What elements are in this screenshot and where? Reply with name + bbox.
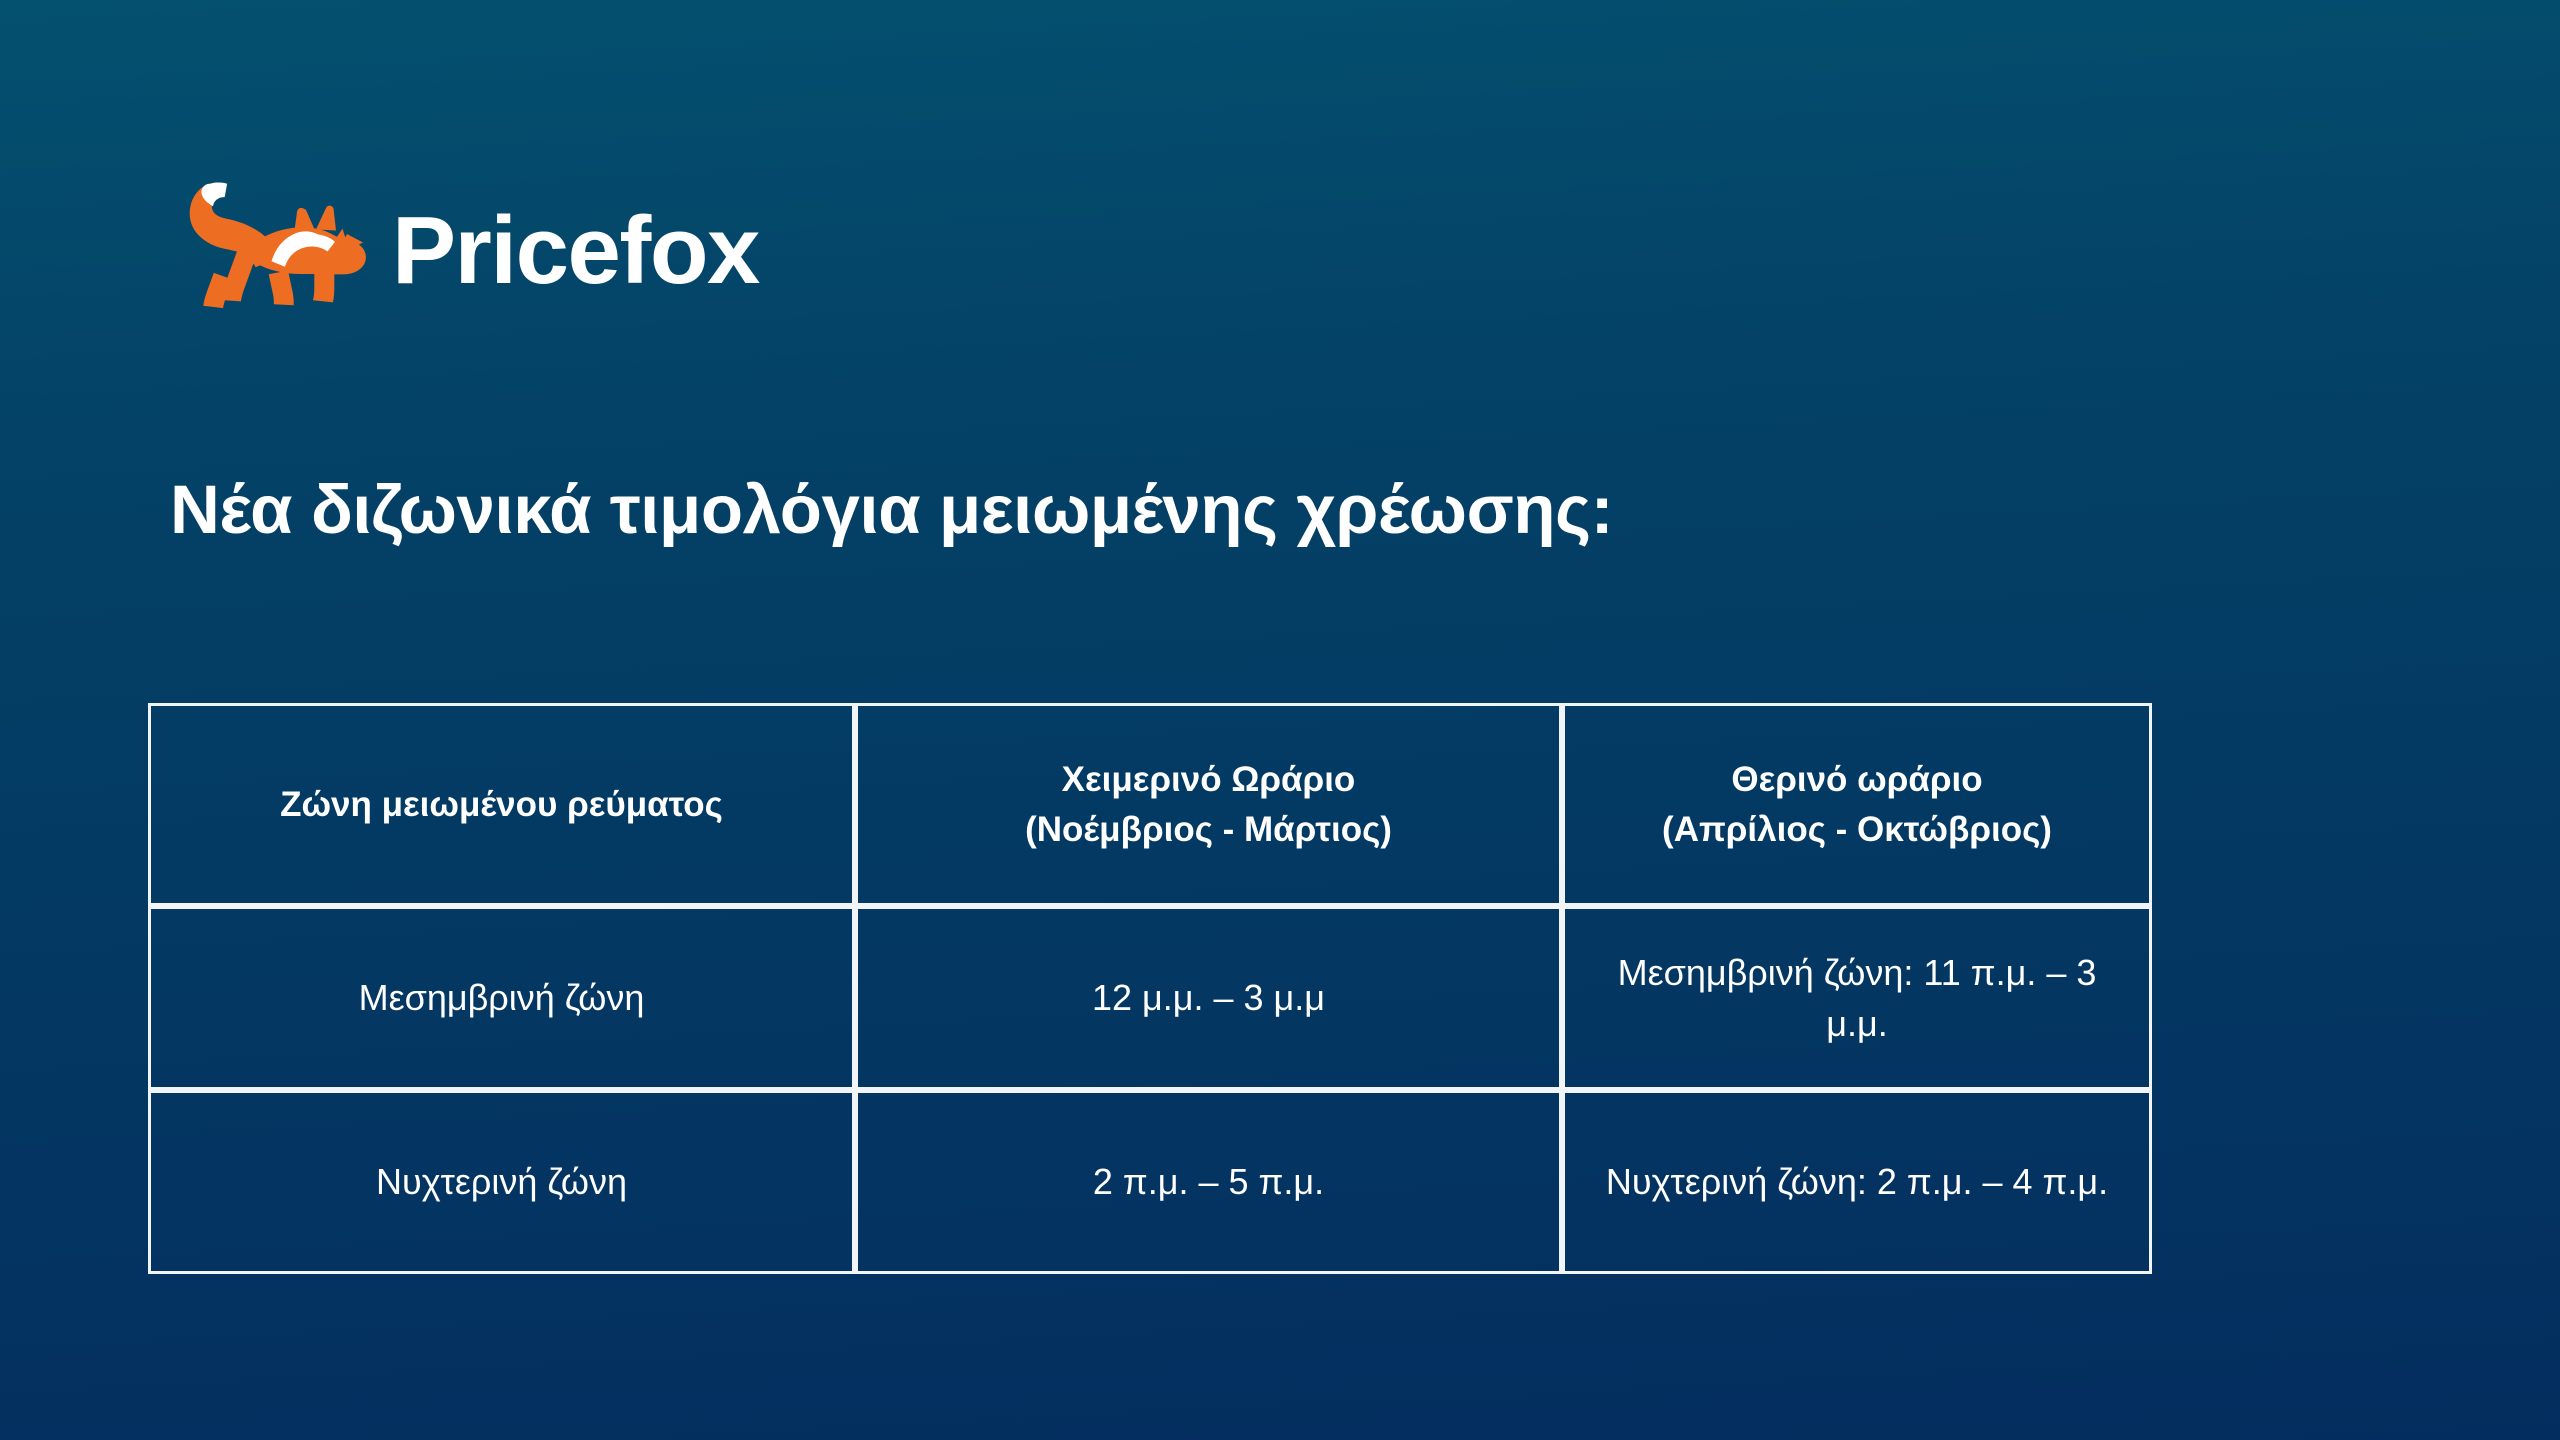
cell-winter-midday: 12 μ.μ. – 3 μ.μ — [855, 906, 1562, 1090]
column-header-summer: Θερινό ωράριο (Απρίλιος - Οκτώβριος) — [1562, 703, 2152, 906]
table-row: Νυχτερινή ζώνη 2 π.μ. – 5 π.μ. Νυχτερινή… — [148, 1090, 2152, 1274]
column-header-winter: Χειμερινό Ωράριο (Νοέμβριος - Μάρτιος) — [855, 703, 1562, 906]
brand-logo: Pricefox — [170, 178, 759, 318]
zone-schedule-table: Ζώνη μειωμένου ρεύματος Χειμερινό Ωράριο… — [148, 703, 2152, 1195]
column-header-winter-line-1: Χειμερινό Ωράριο — [884, 755, 1533, 805]
table-header-row: Ζώνη μειωμένου ρεύματος Χειμερινό Ωράριο… — [148, 703, 2152, 906]
page-title: Νέα διζωνικά τιμολόγια μειωμένης χρέωσης… — [170, 469, 1613, 550]
brand-wordmark: Pricefox — [392, 203, 759, 299]
cell-summer-night: Νυχτερινή ζώνη: 2 π.μ. – 4 π.μ. — [1562, 1090, 2152, 1274]
column-header-summer-line-1: Θερινό ωράριο — [1591, 755, 2123, 805]
fox-icon — [170, 178, 366, 318]
column-header-zone: Ζώνη μειωμένου ρεύματος — [148, 703, 855, 906]
table-row: Μεσημβρινή ζώνη 12 μ.μ. – 3 μ.μ Μεσημβρι… — [148, 906, 2152, 1090]
cell-zone-night: Νυχτερινή ζώνη — [148, 1090, 855, 1274]
column-header-zone-line-1: Ζώνη μειωμένου ρεύματος — [177, 780, 826, 830]
cell-zone-midday: Μεσημβρινή ζώνη — [148, 906, 855, 1090]
cell-winter-night: 2 π.μ. – 5 π.μ. — [855, 1090, 1562, 1274]
column-header-summer-line-2: (Απρίλιος - Οκτώβριος) — [1591, 805, 2123, 855]
slide-canvas: Pricefox Νέα διζωνικά τιμολόγια μειωμένη… — [0, 0, 2560, 1440]
cell-summer-midday: Μεσημβρινή ζώνη: 11 π.μ. – 3 μ.μ. — [1562, 906, 2152, 1090]
column-header-winter-line-2: (Νοέμβριος - Μάρτιος) — [884, 805, 1533, 855]
